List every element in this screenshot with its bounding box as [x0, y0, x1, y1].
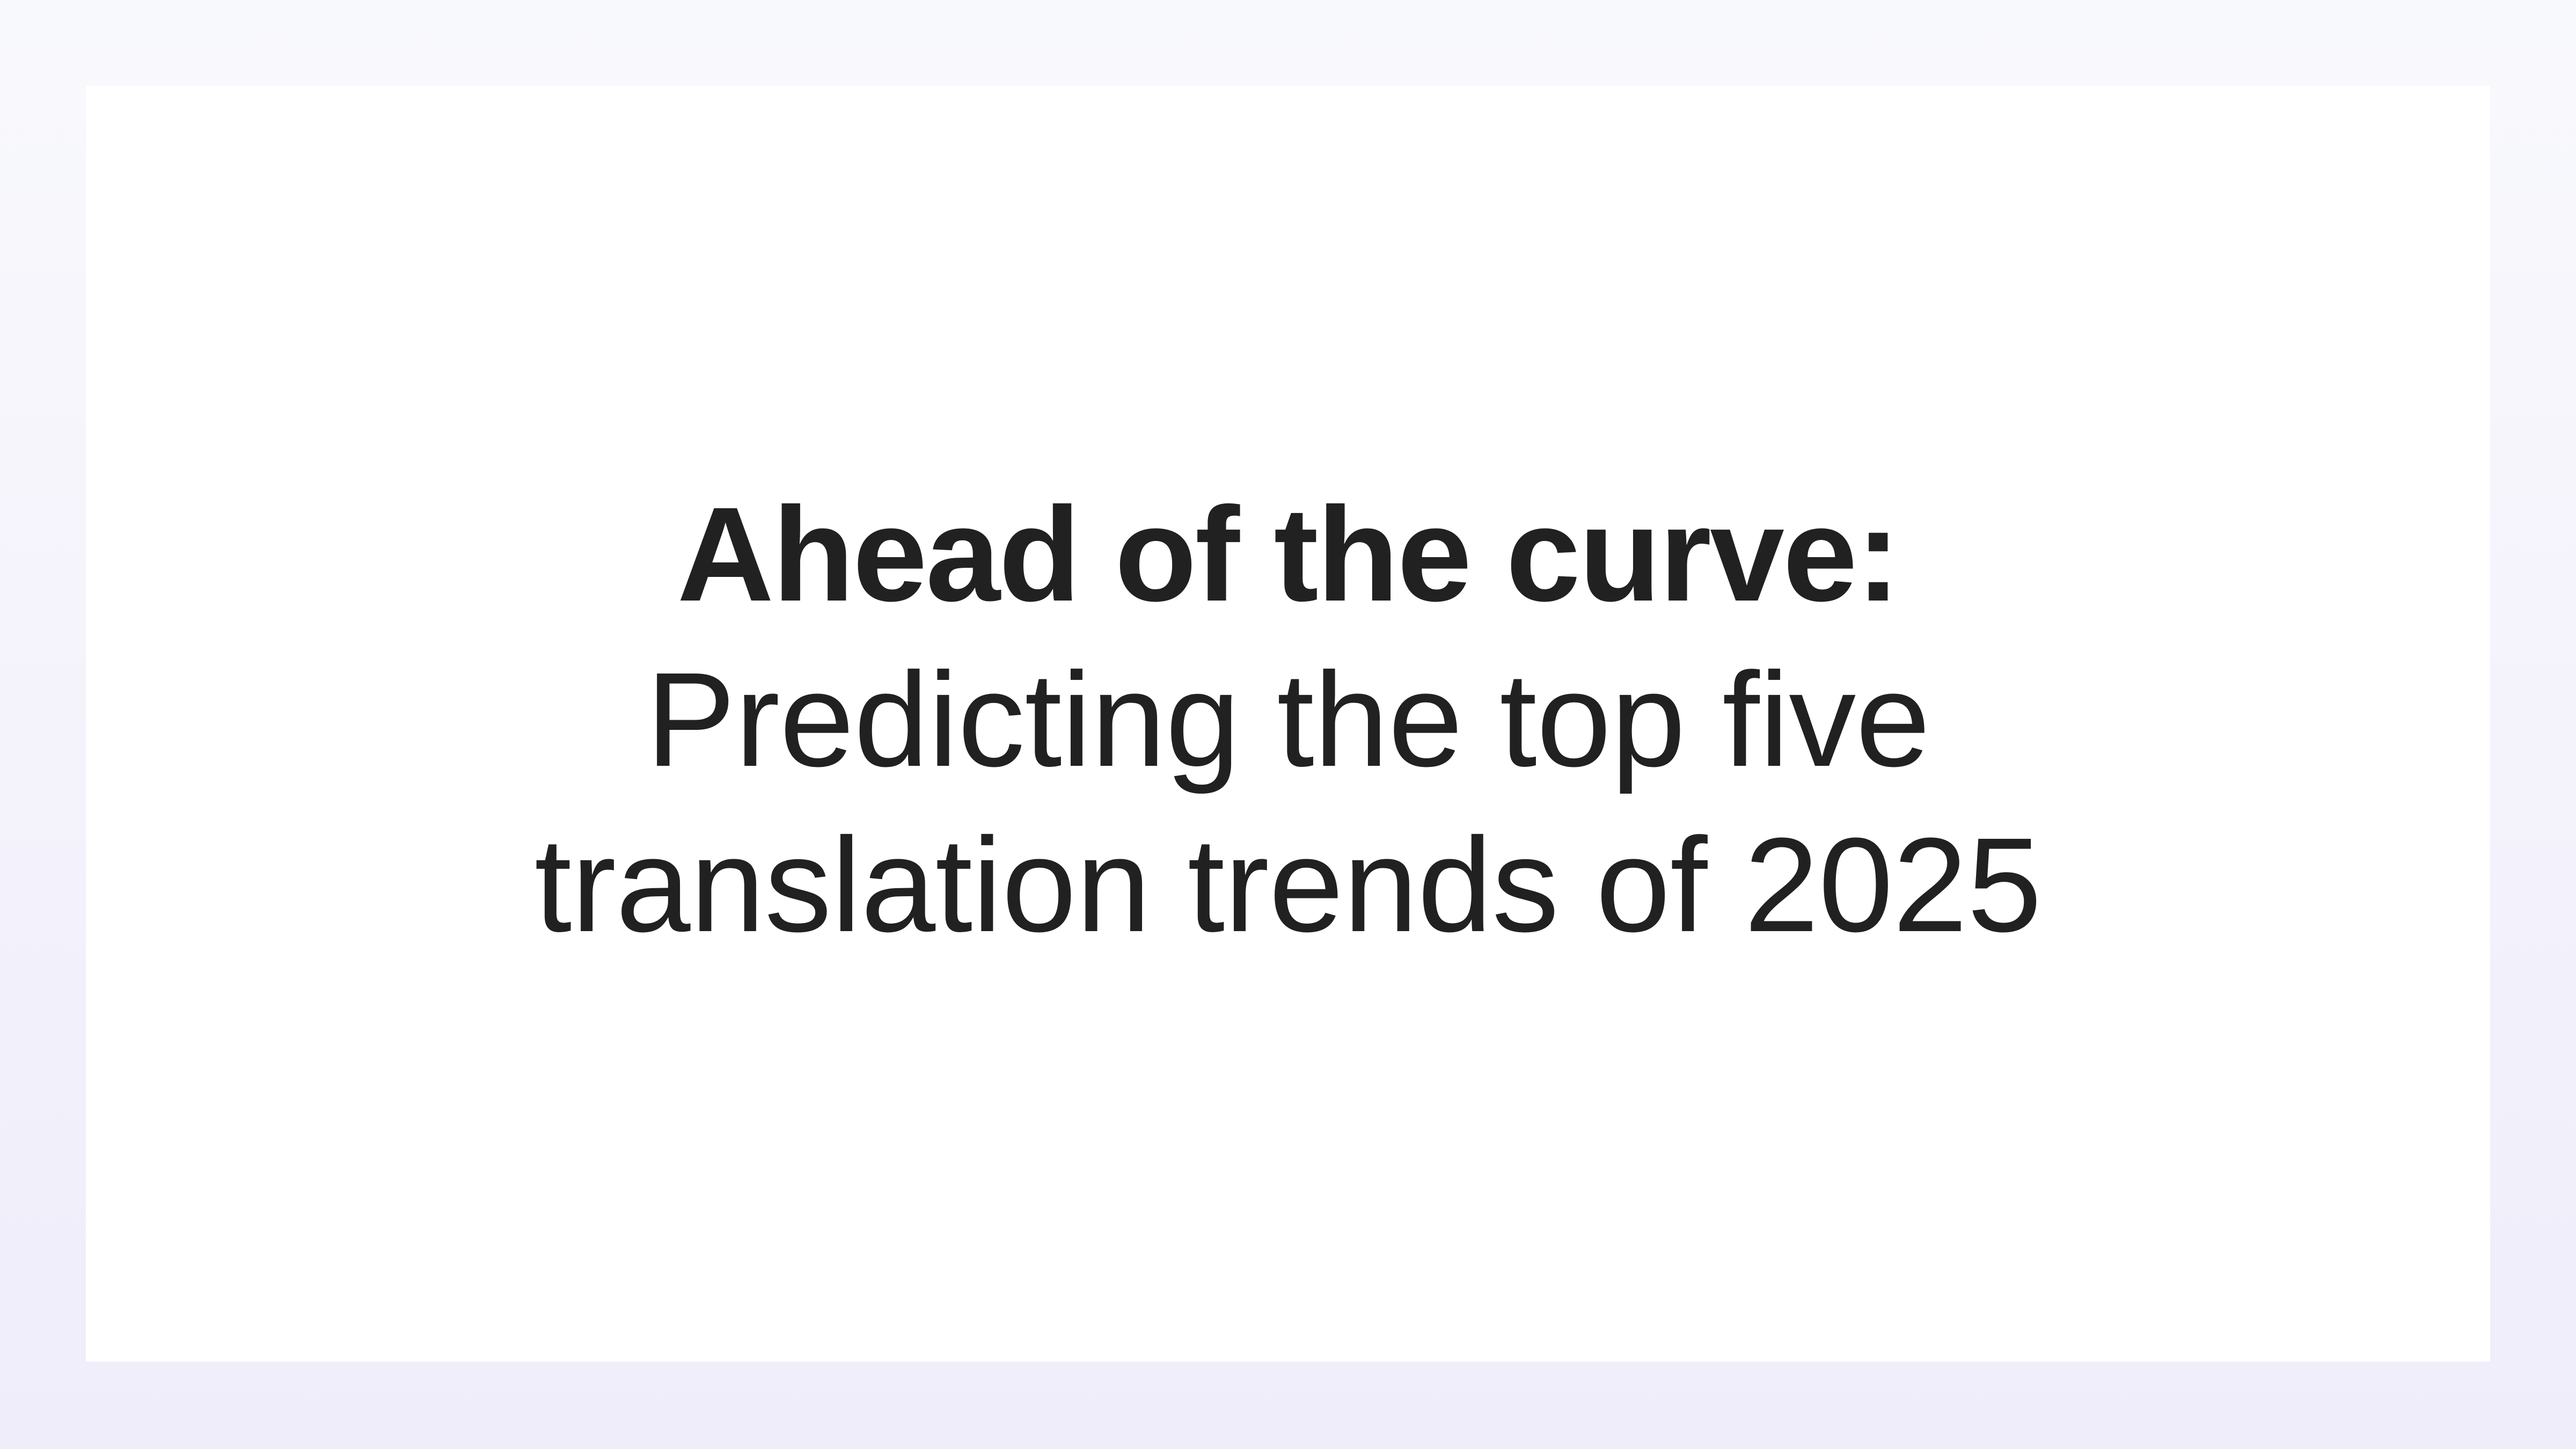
- slide-canvas: Ahead of the curve: Predicting the top f…: [0, 0, 2576, 1449]
- title-line-1: Ahead of the curve:: [215, 472, 2361, 637]
- title-line-3: translation trends of 2025: [215, 802, 2361, 968]
- title-line-2: Predicting the top five: [215, 637, 2361, 802]
- slide-card: Ahead of the curve: Predicting the top f…: [86, 86, 2490, 1362]
- title-block: Ahead of the curve: Predicting the top f…: [215, 472, 2361, 968]
